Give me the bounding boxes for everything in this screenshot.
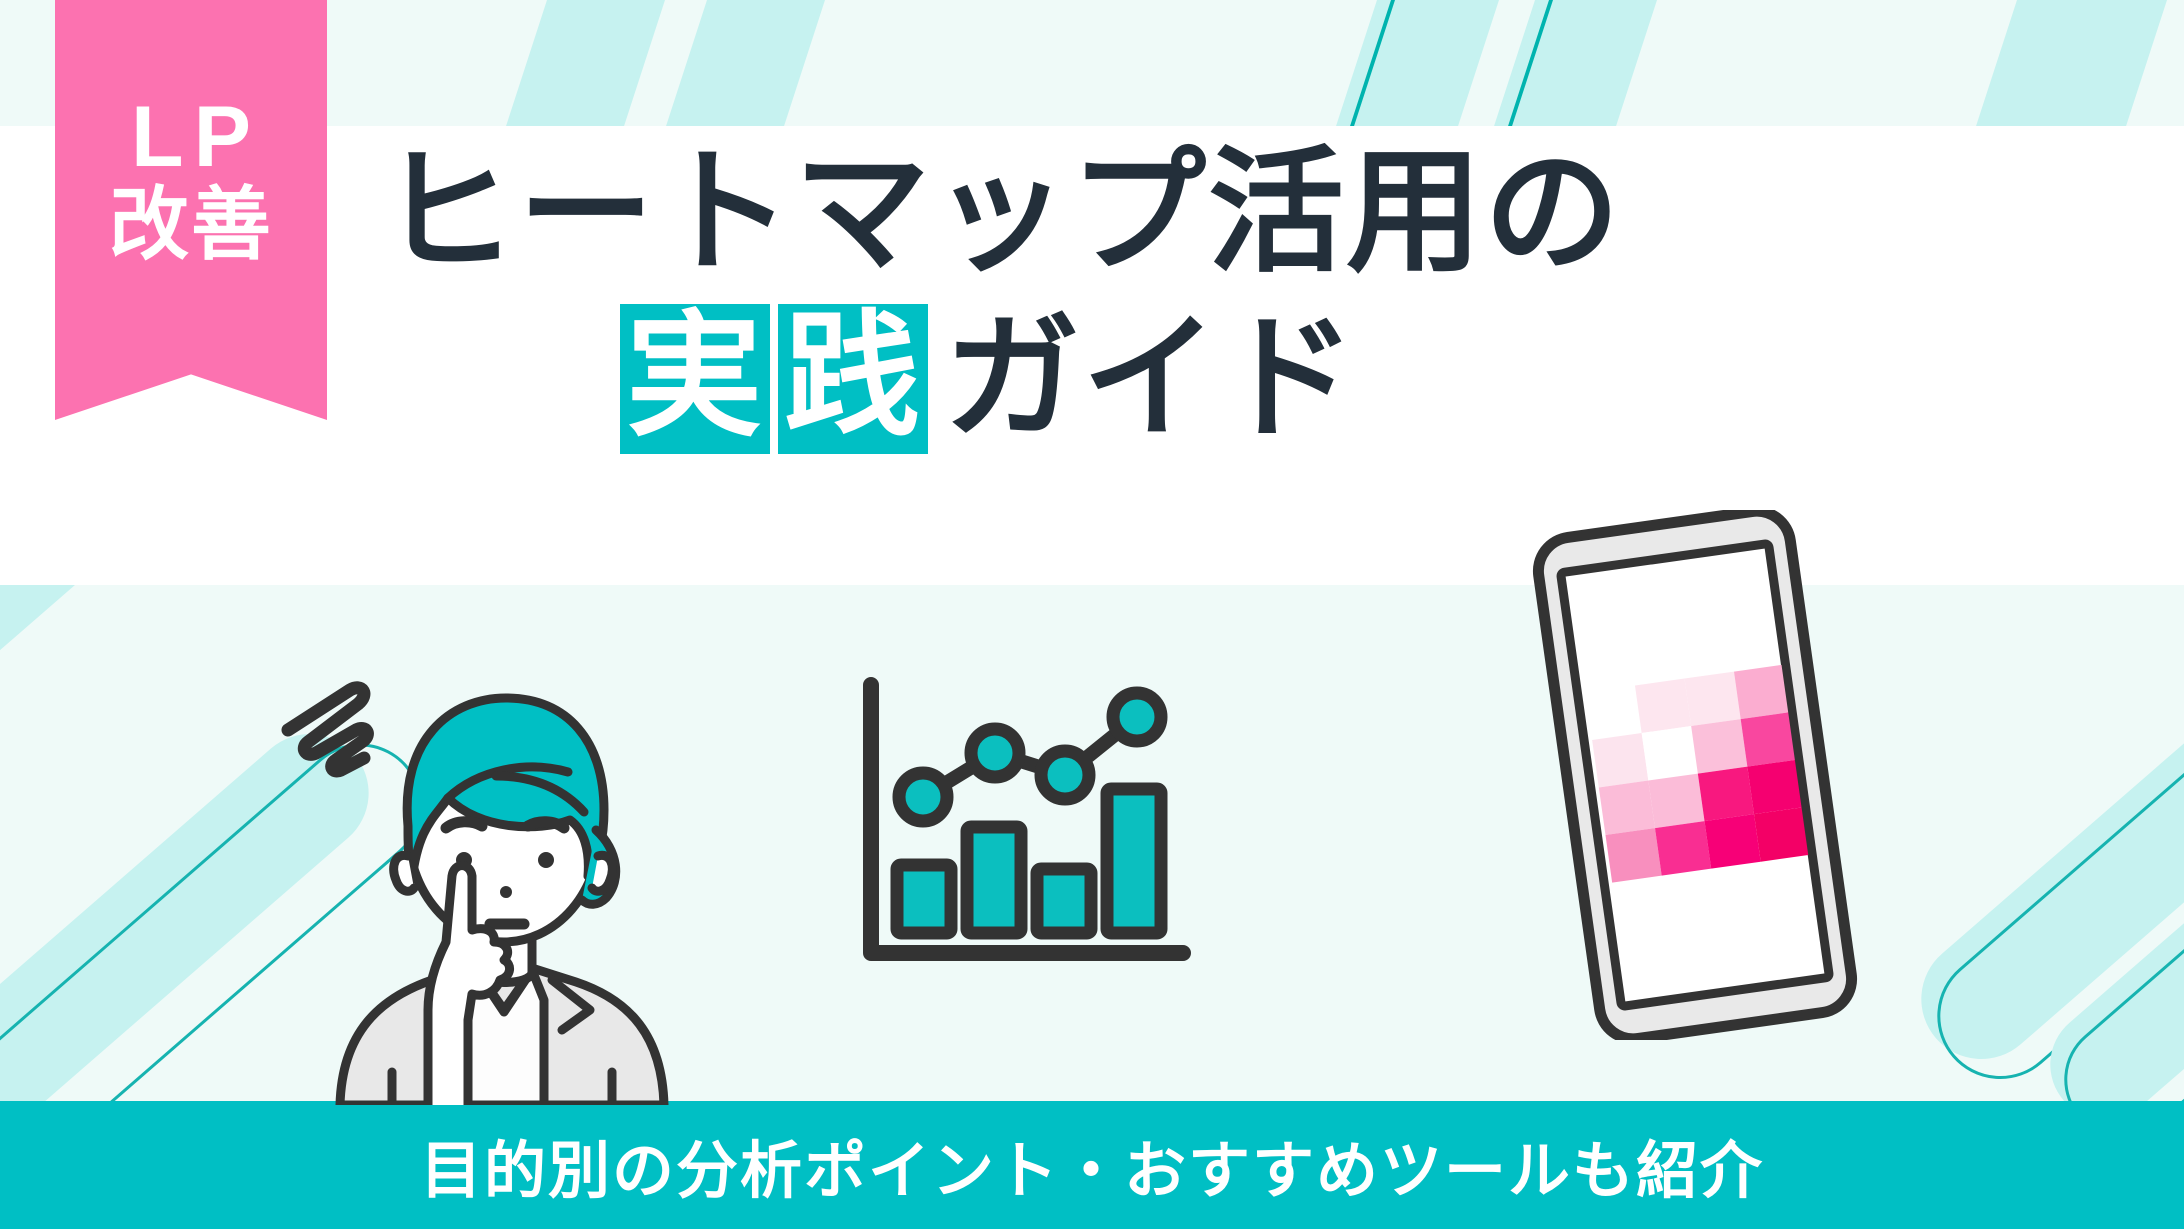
- heatmap-cell: [1684, 672, 1740, 726]
- page-title: ヒートマップ活用の 実 践 ガイド: [380, 132, 1622, 459]
- badge-label-kaizen: 改善: [109, 184, 273, 266]
- chart-bar-4: [1107, 789, 1161, 933]
- heatmap-cell: [1605, 828, 1661, 882]
- tablet-heatmap-illustration: [1530, 510, 1860, 1040]
- heatmap-cell: [1592, 733, 1648, 787]
- page-title-line2-plain: ガイド: [944, 298, 1358, 458]
- heatmap-cell: [1754, 807, 1808, 861]
- chart-bar-3: [1037, 869, 1091, 933]
- page-title-line2: 実 践 ガイド: [380, 298, 1622, 458]
- background-band-top: [0, 0, 2184, 126]
- heatmap-cell: [1655, 821, 1711, 875]
- chart-bar-2: [967, 827, 1021, 933]
- heatmap-cell: [1691, 719, 1747, 773]
- heatmap-cell: [1741, 712, 1795, 766]
- page-title-highlight-2: 践: [778, 304, 928, 454]
- heatmap-cell: [1734, 665, 1788, 719]
- thinking-woman-illustration: [300, 680, 700, 1105]
- chart-point-1: [899, 773, 947, 821]
- heatmap-cell: [1705, 814, 1761, 868]
- heatmap-cell: [1599, 781, 1655, 835]
- chart-point-3: [1041, 751, 1089, 799]
- chart-point-2: [971, 729, 1019, 777]
- eye-right: [538, 852, 554, 868]
- decor-slash-1: [476, 0, 678, 126]
- decor-slash-3: [1306, 0, 1512, 126]
- heatmap-cell: [1698, 767, 1754, 821]
- page-title-line1: ヒートマップ活用の: [380, 132, 1622, 292]
- decor-slash-2: [636, 0, 838, 126]
- decor-capsule-left-2: [0, 585, 146, 917]
- decor-slash-5: [1946, 0, 2180, 126]
- nose: [500, 886, 512, 898]
- heatmap-cell: [1585, 685, 1641, 739]
- heatmap-cell: [1747, 760, 1801, 814]
- badge-label-lp: LP: [121, 94, 261, 182]
- chart-bar-1: [897, 865, 951, 933]
- decor-slash-4: [1464, 0, 1670, 126]
- chart-point-4: [1113, 693, 1161, 741]
- heatmap-cell: [1648, 774, 1704, 828]
- heatmap-cell: [1642, 726, 1698, 780]
- subtitle-text: 目的別の分析ポイント・おすすめツールも紹介: [0, 1101, 2184, 1229]
- banner-canvas: LP 改善 ヒートマップ活用の 実 践 ガイド: [0, 0, 2184, 1229]
- ribbon-badge-text: LP 改善: [55, 0, 327, 360]
- page-title-highlight-1: 実: [620, 304, 770, 454]
- heatmap-grid: [1585, 665, 1808, 883]
- bar-line-chart-icon: [855, 675, 1195, 975]
- heatmap-cell: [1635, 679, 1691, 733]
